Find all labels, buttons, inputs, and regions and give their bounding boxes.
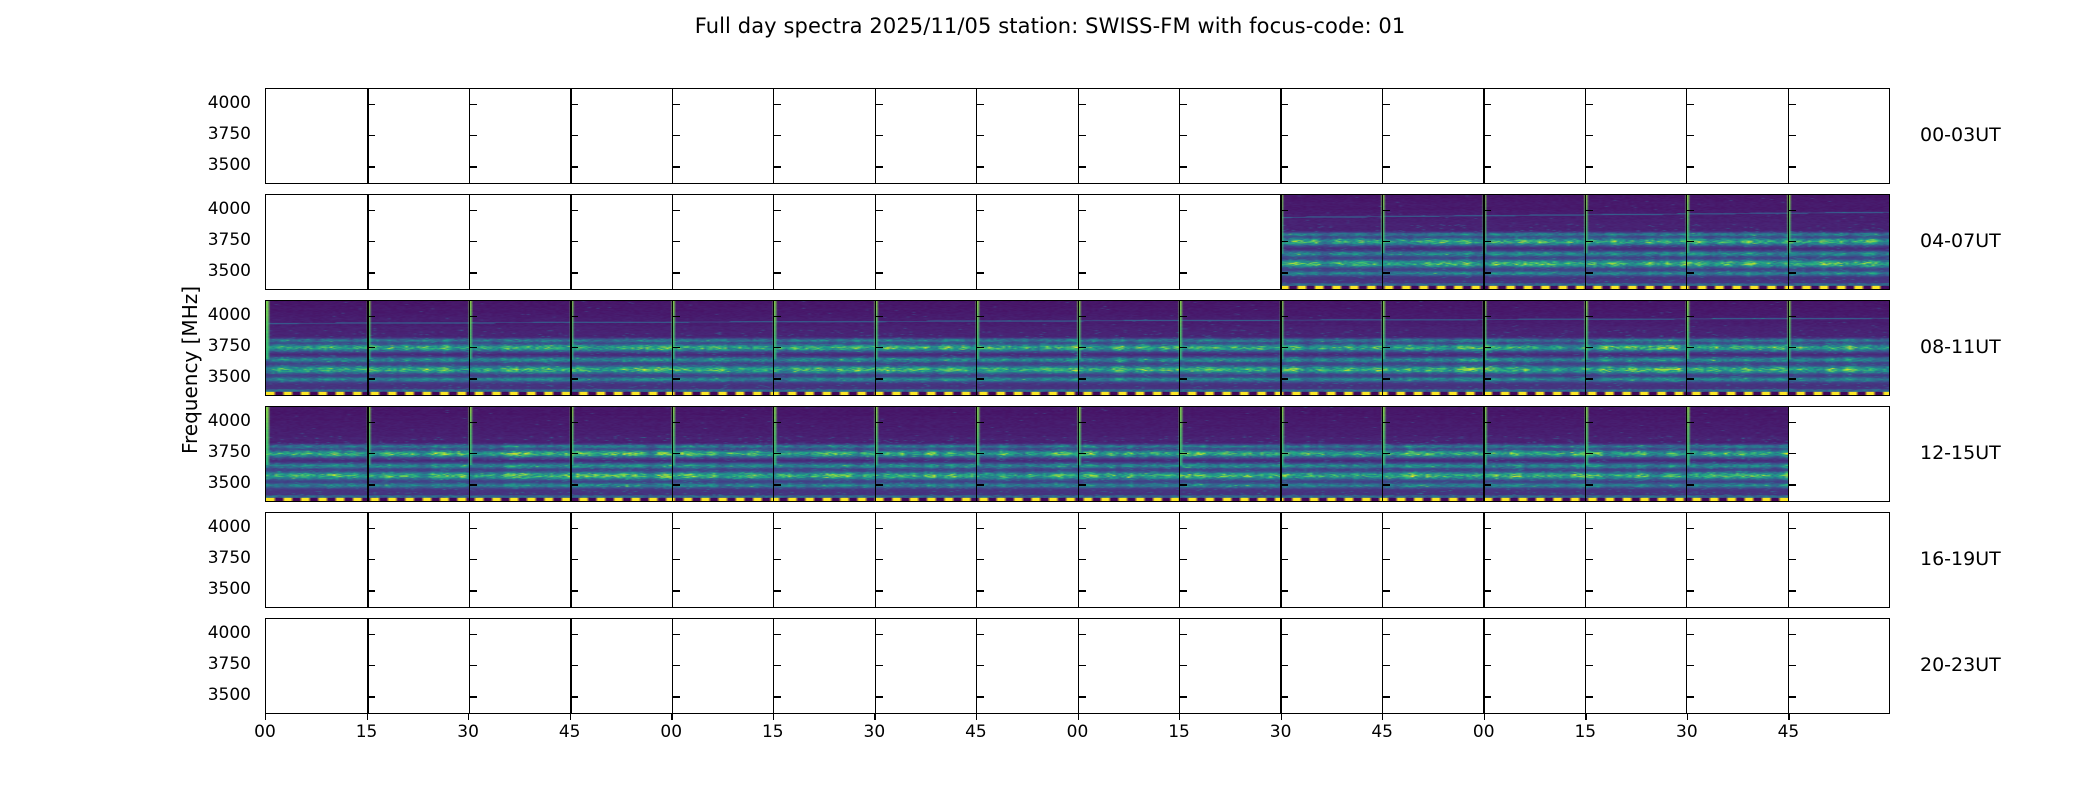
panel-stack [265, 88, 1890, 714]
y-tick-mark [571, 665, 578, 666]
y-tick-mark [1687, 135, 1694, 136]
y-tick-mark [876, 528, 883, 529]
y-tick-mark [977, 665, 984, 666]
x-tick-label: 15 [748, 722, 798, 742]
y-tick-mark [1789, 104, 1796, 105]
row-label-16-19ut: 16-19UT [1920, 548, 2001, 570]
y-tick-mark [571, 528, 578, 529]
y-tick-mark [774, 559, 781, 560]
row-label-00-03ut: 00-03UT [1920, 124, 2001, 146]
y-tick-mark [1281, 559, 1288, 560]
y-tick-mark [1079, 210, 1086, 211]
y-tick-mark [1586, 135, 1593, 136]
y-tick-mark [1586, 528, 1593, 529]
y-tick-mark [571, 135, 578, 136]
spectrogram-canvas [1280, 195, 1889, 289]
y-tick-mark [1180, 104, 1187, 105]
y-tick-mark [1383, 634, 1390, 635]
y-tick-mark [1789, 559, 1796, 560]
y-tick-mark [1079, 241, 1086, 242]
x-tick-mark [1788, 714, 1789, 720]
y-tick-mark [673, 104, 680, 105]
y-tick-mark [673, 696, 680, 697]
y-tick-mark [1180, 241, 1187, 242]
x-tick-label: 00 [646, 722, 696, 742]
y-tick-mark [368, 166, 375, 167]
y-tick-mark [1281, 528, 1288, 529]
x-tick-label: 00 [240, 722, 290, 742]
x-gridline [672, 89, 673, 183]
x-gridline [976, 195, 977, 289]
y-tick-mark [470, 166, 477, 167]
x-gridline [773, 513, 774, 607]
y-tick-mark [673, 210, 680, 211]
x-gridline [976, 513, 977, 607]
y-tick-mark [876, 104, 883, 105]
y-tick-mark [774, 634, 781, 635]
y-tick-mark [1383, 528, 1390, 529]
x-tick-label: 45 [1763, 722, 1813, 742]
x-tick-mark [874, 714, 875, 720]
y-tick-mark [1281, 104, 1288, 105]
x-gridline [469, 89, 470, 183]
y-tick-mark [470, 665, 477, 666]
panel-plot-area [266, 513, 1889, 607]
y-tick-mark [977, 104, 984, 105]
y-tick-mark [571, 166, 578, 167]
panel-20-23ut[interactable] [265, 618, 1890, 714]
x-gridline [773, 619, 774, 713]
y-tick-mark [977, 634, 984, 635]
y-tick-mark [673, 166, 680, 167]
y-tick-mark [1687, 104, 1694, 105]
y-tick-mark [1789, 528, 1796, 529]
y-tick-mark [977, 528, 984, 529]
x-tick-label: 45 [951, 722, 1001, 742]
y-tick-mark [571, 272, 578, 273]
x-gridline [976, 89, 977, 183]
y-tick-mark [1180, 272, 1187, 273]
y-tick-mark [1383, 104, 1390, 105]
x-tick-label: 30 [1662, 722, 1712, 742]
y-tick-mark [1383, 135, 1390, 136]
x-tick-label: 45 [1357, 722, 1407, 742]
y-tick-mark [368, 590, 375, 591]
y-tick-mark [876, 665, 883, 666]
x-gridline [672, 195, 673, 289]
x-gridline [1686, 89, 1687, 183]
x-gridline [1686, 513, 1687, 607]
panel-16-19ut[interactable] [265, 512, 1890, 608]
y-tick-mark [1484, 104, 1491, 105]
y-tick-mark [1079, 272, 1086, 273]
y-tick-mark [368, 634, 375, 635]
y-tick-mark [1789, 665, 1796, 666]
spectrogram-image [266, 301, 1889, 395]
y-axis-title: Frequency [MHz] [178, 40, 208, 700]
y-tick-mark [1281, 135, 1288, 136]
y-tick-mark [368, 241, 375, 242]
x-tick-mark [265, 714, 266, 720]
x-tick-mark [367, 714, 368, 720]
y-tick-mark [1180, 634, 1187, 635]
panel-00-03ut[interactable] [265, 88, 1890, 184]
y-tick-mark [1687, 634, 1694, 635]
x-gridline [875, 513, 876, 607]
panel-plot-area [266, 301, 1889, 395]
y-tick-mark [571, 104, 578, 105]
y-tick-mark [1586, 166, 1593, 167]
y-tick-mark [571, 696, 578, 697]
x-tick-label: 00 [1459, 722, 1509, 742]
y-tick-mark [368, 665, 375, 666]
y-tick-mark [977, 135, 984, 136]
y-tick-mark [977, 696, 984, 697]
y-tick-mark [1180, 559, 1187, 560]
y-tick-mark [1079, 559, 1086, 560]
y-tick-mark [673, 665, 680, 666]
y-tick-mark [673, 272, 680, 273]
y-tick-mark [1586, 665, 1593, 666]
x-tick-label: 30 [443, 722, 493, 742]
y-tick-mark [1687, 665, 1694, 666]
y-tick-mark [1586, 696, 1593, 697]
y-tick-mark [774, 665, 781, 666]
row-label-04-07ut: 04-07UT [1920, 230, 2001, 252]
y-tick-mark [1383, 559, 1390, 560]
y-tick-mark [977, 210, 984, 211]
x-tick-mark [1179, 714, 1180, 720]
y-tick-mark [470, 590, 477, 591]
y-tick-mark [1687, 166, 1694, 167]
y-tick-mark [368, 135, 375, 136]
spectrogram-canvas [266, 301, 1889, 395]
x-gridline [367, 513, 368, 607]
x-gridline [469, 513, 470, 607]
x-gridline [1280, 89, 1281, 183]
panel-plot-area [266, 89, 1889, 183]
x-tick-label: 30 [849, 722, 899, 742]
y-tick-mark [1484, 135, 1491, 136]
x-tick-label: 15 [342, 722, 392, 742]
y-tick-mark [1789, 166, 1796, 167]
x-tick-mark [1484, 714, 1485, 720]
y-tick-mark [1079, 104, 1086, 105]
y-tick-mark [1079, 528, 1086, 529]
x-gridline [773, 89, 774, 183]
x-gridline [1078, 195, 1079, 289]
y-tick-mark [1586, 634, 1593, 635]
y-tick-mark [673, 528, 680, 529]
y-tick-mark [774, 210, 781, 211]
y-tick-mark [1180, 166, 1187, 167]
y-tick-mark [1383, 665, 1390, 666]
y-tick-mark [470, 135, 477, 136]
y-tick-mark [470, 528, 477, 529]
y-tick-mark [673, 135, 680, 136]
y-tick-mark [1484, 166, 1491, 167]
x-tick-mark [468, 714, 469, 720]
x-gridline [1788, 513, 1789, 607]
x-gridline [570, 513, 571, 607]
panel-plot-area [266, 619, 1889, 713]
y-tick-mark [977, 166, 984, 167]
x-gridline [1179, 513, 1180, 607]
x-gridline [875, 89, 876, 183]
y-tick-mark [774, 590, 781, 591]
x-gridline [1585, 619, 1586, 713]
y-tick-mark [368, 696, 375, 697]
y-tick-mark [977, 241, 984, 242]
y-tick-mark [470, 559, 477, 560]
x-gridline [1788, 89, 1789, 183]
y-tick-mark [673, 241, 680, 242]
y-tick-mark [1586, 104, 1593, 105]
x-tick-mark [1585, 714, 1586, 720]
panel-04-07ut[interactable] [265, 194, 1890, 290]
y-tick-mark [470, 241, 477, 242]
x-gridline [1382, 619, 1383, 713]
page-title: Full day spectra 2025/11/05 station: SWI… [0, 14, 2100, 38]
x-gridline [1078, 513, 1079, 607]
y-tick-mark [876, 272, 883, 273]
y-tick-mark [368, 272, 375, 273]
y-tick-mark [1687, 696, 1694, 697]
y-tick-mark [977, 590, 984, 591]
row-label-20-23ut: 20-23UT [1920, 654, 2001, 676]
x-gridline [1686, 619, 1687, 713]
x-gridline [1179, 89, 1180, 183]
y-tick-mark [1079, 665, 1086, 666]
y-tick-mark [1484, 559, 1491, 560]
y-tick-mark [977, 272, 984, 273]
y-tick-mark [571, 634, 578, 635]
y-tick-mark [1281, 590, 1288, 591]
y-tick-mark [876, 166, 883, 167]
figure-canvas: Full day spectra 2025/11/05 station: SWI… [0, 0, 2100, 800]
y-tick-mark [1789, 422, 1796, 423]
y-tick-mark [1383, 166, 1390, 167]
y-tick-mark [774, 135, 781, 136]
y-tick-mark [1586, 590, 1593, 591]
y-tick-mark [1079, 634, 1086, 635]
x-gridline [1280, 619, 1281, 713]
panel-12-15ut[interactable] [265, 406, 1890, 502]
x-tick-mark [570, 714, 571, 720]
x-gridline [1382, 513, 1383, 607]
y-tick-mark [368, 528, 375, 529]
x-gridline [570, 619, 571, 713]
x-tick-mark [773, 714, 774, 720]
y-tick-mark [876, 559, 883, 560]
y-tick-mark [470, 696, 477, 697]
x-gridline [1483, 513, 1484, 607]
x-gridline [1078, 89, 1079, 183]
x-gridline [469, 195, 470, 289]
y-tick-mark [774, 528, 781, 529]
x-gridline [1585, 513, 1586, 607]
x-gridline [367, 89, 368, 183]
y-tick-mark [1180, 590, 1187, 591]
x-tick-mark [1687, 714, 1688, 720]
y-tick-mark [1180, 135, 1187, 136]
y-tick-mark [774, 104, 781, 105]
y-tick-mark [571, 241, 578, 242]
y-tick-mark [1281, 166, 1288, 167]
y-tick-mark [1180, 696, 1187, 697]
y-tick-mark [1079, 696, 1086, 697]
y-tick-mark [1281, 634, 1288, 635]
y-tick-mark [1789, 696, 1796, 697]
row-label-08-11ut: 08-11UT [1920, 336, 2001, 358]
x-tick-mark [671, 714, 672, 720]
spectrogram-image [1280, 195, 1889, 289]
y-tick-mark [470, 272, 477, 273]
x-gridline [1788, 407, 1789, 501]
y-tick-mark [470, 104, 477, 105]
y-tick-mark [774, 272, 781, 273]
spectrogram-image [266, 407, 1788, 501]
x-gridline [773, 195, 774, 289]
y-tick-mark [673, 559, 680, 560]
x-gridline [469, 619, 470, 713]
y-tick-mark [977, 559, 984, 560]
x-gridline [570, 89, 571, 183]
y-tick-mark [571, 590, 578, 591]
x-gridline [1483, 89, 1484, 183]
x-gridline [672, 513, 673, 607]
y-tick-mark [1180, 210, 1187, 211]
panel-plot-area [266, 195, 1889, 289]
x-gridline [570, 195, 571, 289]
y-tick-mark [1180, 665, 1187, 666]
x-tick-label: 30 [1256, 722, 1306, 742]
y-tick-mark [1789, 590, 1796, 591]
y-tick-mark [774, 241, 781, 242]
y-tick-mark [368, 559, 375, 560]
y-tick-mark [774, 696, 781, 697]
x-tick-label: 15 [1560, 722, 1610, 742]
y-tick-mark [571, 559, 578, 560]
y-tick-mark [876, 590, 883, 591]
y-tick-mark [1383, 590, 1390, 591]
y-tick-mark [876, 634, 883, 635]
x-gridline [672, 619, 673, 713]
y-tick-mark [1383, 696, 1390, 697]
y-tick-mark [1079, 590, 1086, 591]
x-gridline [976, 619, 977, 713]
panel-08-11ut[interactable] [265, 300, 1890, 396]
x-tick-mark [1078, 714, 1079, 720]
y-tick-mark [1180, 528, 1187, 529]
y-tick-mark [876, 241, 883, 242]
x-gridline [875, 195, 876, 289]
y-tick-mark [1789, 484, 1796, 485]
y-tick-mark [1789, 135, 1796, 136]
x-gridline [1585, 89, 1586, 183]
x-gridline [1788, 619, 1789, 713]
x-tick-label: 15 [1154, 722, 1204, 742]
x-gridline [367, 195, 368, 289]
x-tick-mark [1281, 714, 1282, 720]
y-tick-mark [1789, 453, 1796, 454]
y-tick-mark [673, 590, 680, 591]
y-tick-mark [1484, 696, 1491, 697]
x-gridline [1483, 619, 1484, 713]
y-tick-mark [1484, 665, 1491, 666]
x-gridline [1382, 89, 1383, 183]
y-tick-mark [876, 696, 883, 697]
y-tick-mark [368, 104, 375, 105]
y-tick-mark [876, 210, 883, 211]
y-tick-mark [1586, 559, 1593, 560]
y-tick-mark [1687, 590, 1694, 591]
x-gridline [1280, 513, 1281, 607]
x-gridline [1179, 195, 1180, 289]
y-tick-mark [1281, 696, 1288, 697]
y-tick-mark [470, 210, 477, 211]
y-tick-mark [673, 634, 680, 635]
panel-plot-area [266, 407, 1889, 501]
x-tick-mark [1382, 714, 1383, 720]
x-tick-label: 00 [1053, 722, 1103, 742]
row-label-12-15ut: 12-15UT [1920, 442, 2001, 464]
y-tick-mark [1687, 559, 1694, 560]
y-tick-mark [1484, 590, 1491, 591]
y-tick-mark [1484, 634, 1491, 635]
x-gridline [1179, 619, 1180, 713]
y-tick-mark [368, 210, 375, 211]
y-tick-mark [876, 135, 883, 136]
spectrogram-canvas [266, 407, 1788, 501]
y-tick-mark [1281, 665, 1288, 666]
y-tick-mark [1687, 528, 1694, 529]
y-tick-mark [1079, 135, 1086, 136]
y-tick-mark [1079, 166, 1086, 167]
x-gridline [875, 619, 876, 713]
y-tick-mark [571, 210, 578, 211]
y-tick-mark [470, 634, 477, 635]
x-tick-mark [976, 714, 977, 720]
x-gridline [1078, 619, 1079, 713]
y-tick-mark [1789, 634, 1796, 635]
x-tick-label: 45 [545, 722, 595, 742]
x-gridline [367, 619, 368, 713]
y-tick-mark [774, 166, 781, 167]
y-tick-mark [1484, 528, 1491, 529]
